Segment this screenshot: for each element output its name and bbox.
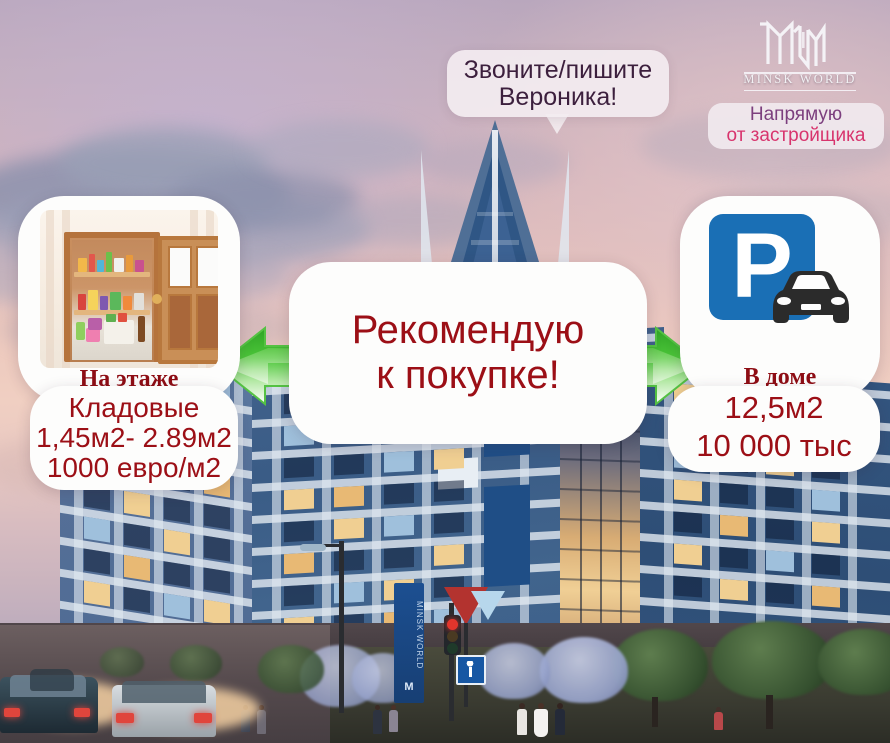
minsk-world-street-banner: MINSK WORLD M (394, 583, 424, 703)
storage-card-details: Кладовые 1,45м2- 2.89м2 1000 евро/м2 (30, 386, 238, 490)
badge-line-1: Напрямую (750, 105, 842, 126)
tree-trunk (766, 695, 773, 729)
tree (100, 647, 144, 677)
car-taillight (194, 713, 212, 723)
recommendation-line-2: к покупке! (352, 353, 585, 398)
storage-room-icon (40, 210, 218, 368)
storage-card: На этаже (18, 196, 240, 402)
tree-blossom (478, 643, 550, 699)
parking-sign-icon: P (705, 214, 857, 362)
street-lamp-pole (339, 541, 344, 713)
parking-detail-line-2: 10 000 тыс (668, 430, 880, 462)
logo-divider (744, 90, 856, 92)
speech-bubble-tail (545, 114, 569, 134)
tree (170, 645, 222, 681)
car-taillight (4, 708, 20, 717)
pedestrian (515, 703, 529, 737)
storage-detail-line-3: 1000 евро/м2 (30, 454, 238, 483)
tree-blossom (540, 637, 628, 703)
speech-bubble-line-2: Вероника! (464, 84, 652, 111)
mw-monogram-icon (740, 16, 860, 70)
badge-line-2: от застройщика (727, 126, 866, 147)
recommendation-line-1: Рекомендую (352, 308, 585, 353)
car-window (122, 681, 206, 703)
storage-detail-line-1: Кладовые (30, 394, 238, 423)
parking-card: P В доме (680, 196, 880, 400)
tree (258, 645, 324, 693)
minsk-world-logo: MINSK WORLD (740, 16, 860, 96)
recommendation-text: Рекомендую к покупке! (289, 262, 647, 444)
promo-image: MINSK WORLD M (0, 0, 890, 743)
car (30, 669, 74, 691)
storage-detail-line-2: 1,45м2- 2.89м2 (30, 424, 238, 453)
pedestrian (372, 705, 384, 735)
car-front-icon (763, 268, 855, 330)
banner-logo-icon: M (400, 679, 418, 695)
direct-from-developer-badge: Напрямую от застройщика (708, 103, 884, 149)
tree (712, 621, 832, 699)
speech-bubble-contact: Звоните/пишите Вероника! (447, 50, 669, 117)
pedestrian (533, 703, 549, 739)
pedestrian (553, 703, 567, 737)
pedestrian (388, 705, 400, 733)
recommendation-card: Рекомендую к покупке! (289, 262, 647, 444)
street-lamp-head (300, 544, 326, 551)
logo-wordmark: MINSK WORLD (740, 72, 860, 87)
banner-text: MINSK WORLD (394, 601, 424, 669)
car-taillight (74, 708, 90, 717)
car-taillight (116, 713, 134, 723)
tree-trunk (652, 697, 658, 727)
speech-bubble-text: Звоните/пишите Вероника! (464, 57, 652, 111)
speech-bubble-line-1: Звоните/пишите (464, 57, 652, 84)
parking-card-details: 12,5м2 10 000 тыс (668, 386, 880, 472)
parking-detail-line-1: 12,5м2 (668, 392, 880, 424)
traffic-light-icon (444, 615, 461, 655)
door-knob-icon (152, 294, 162, 304)
pedestrian-crossing-sign-icon (456, 655, 486, 685)
pedestrian (714, 707, 724, 731)
